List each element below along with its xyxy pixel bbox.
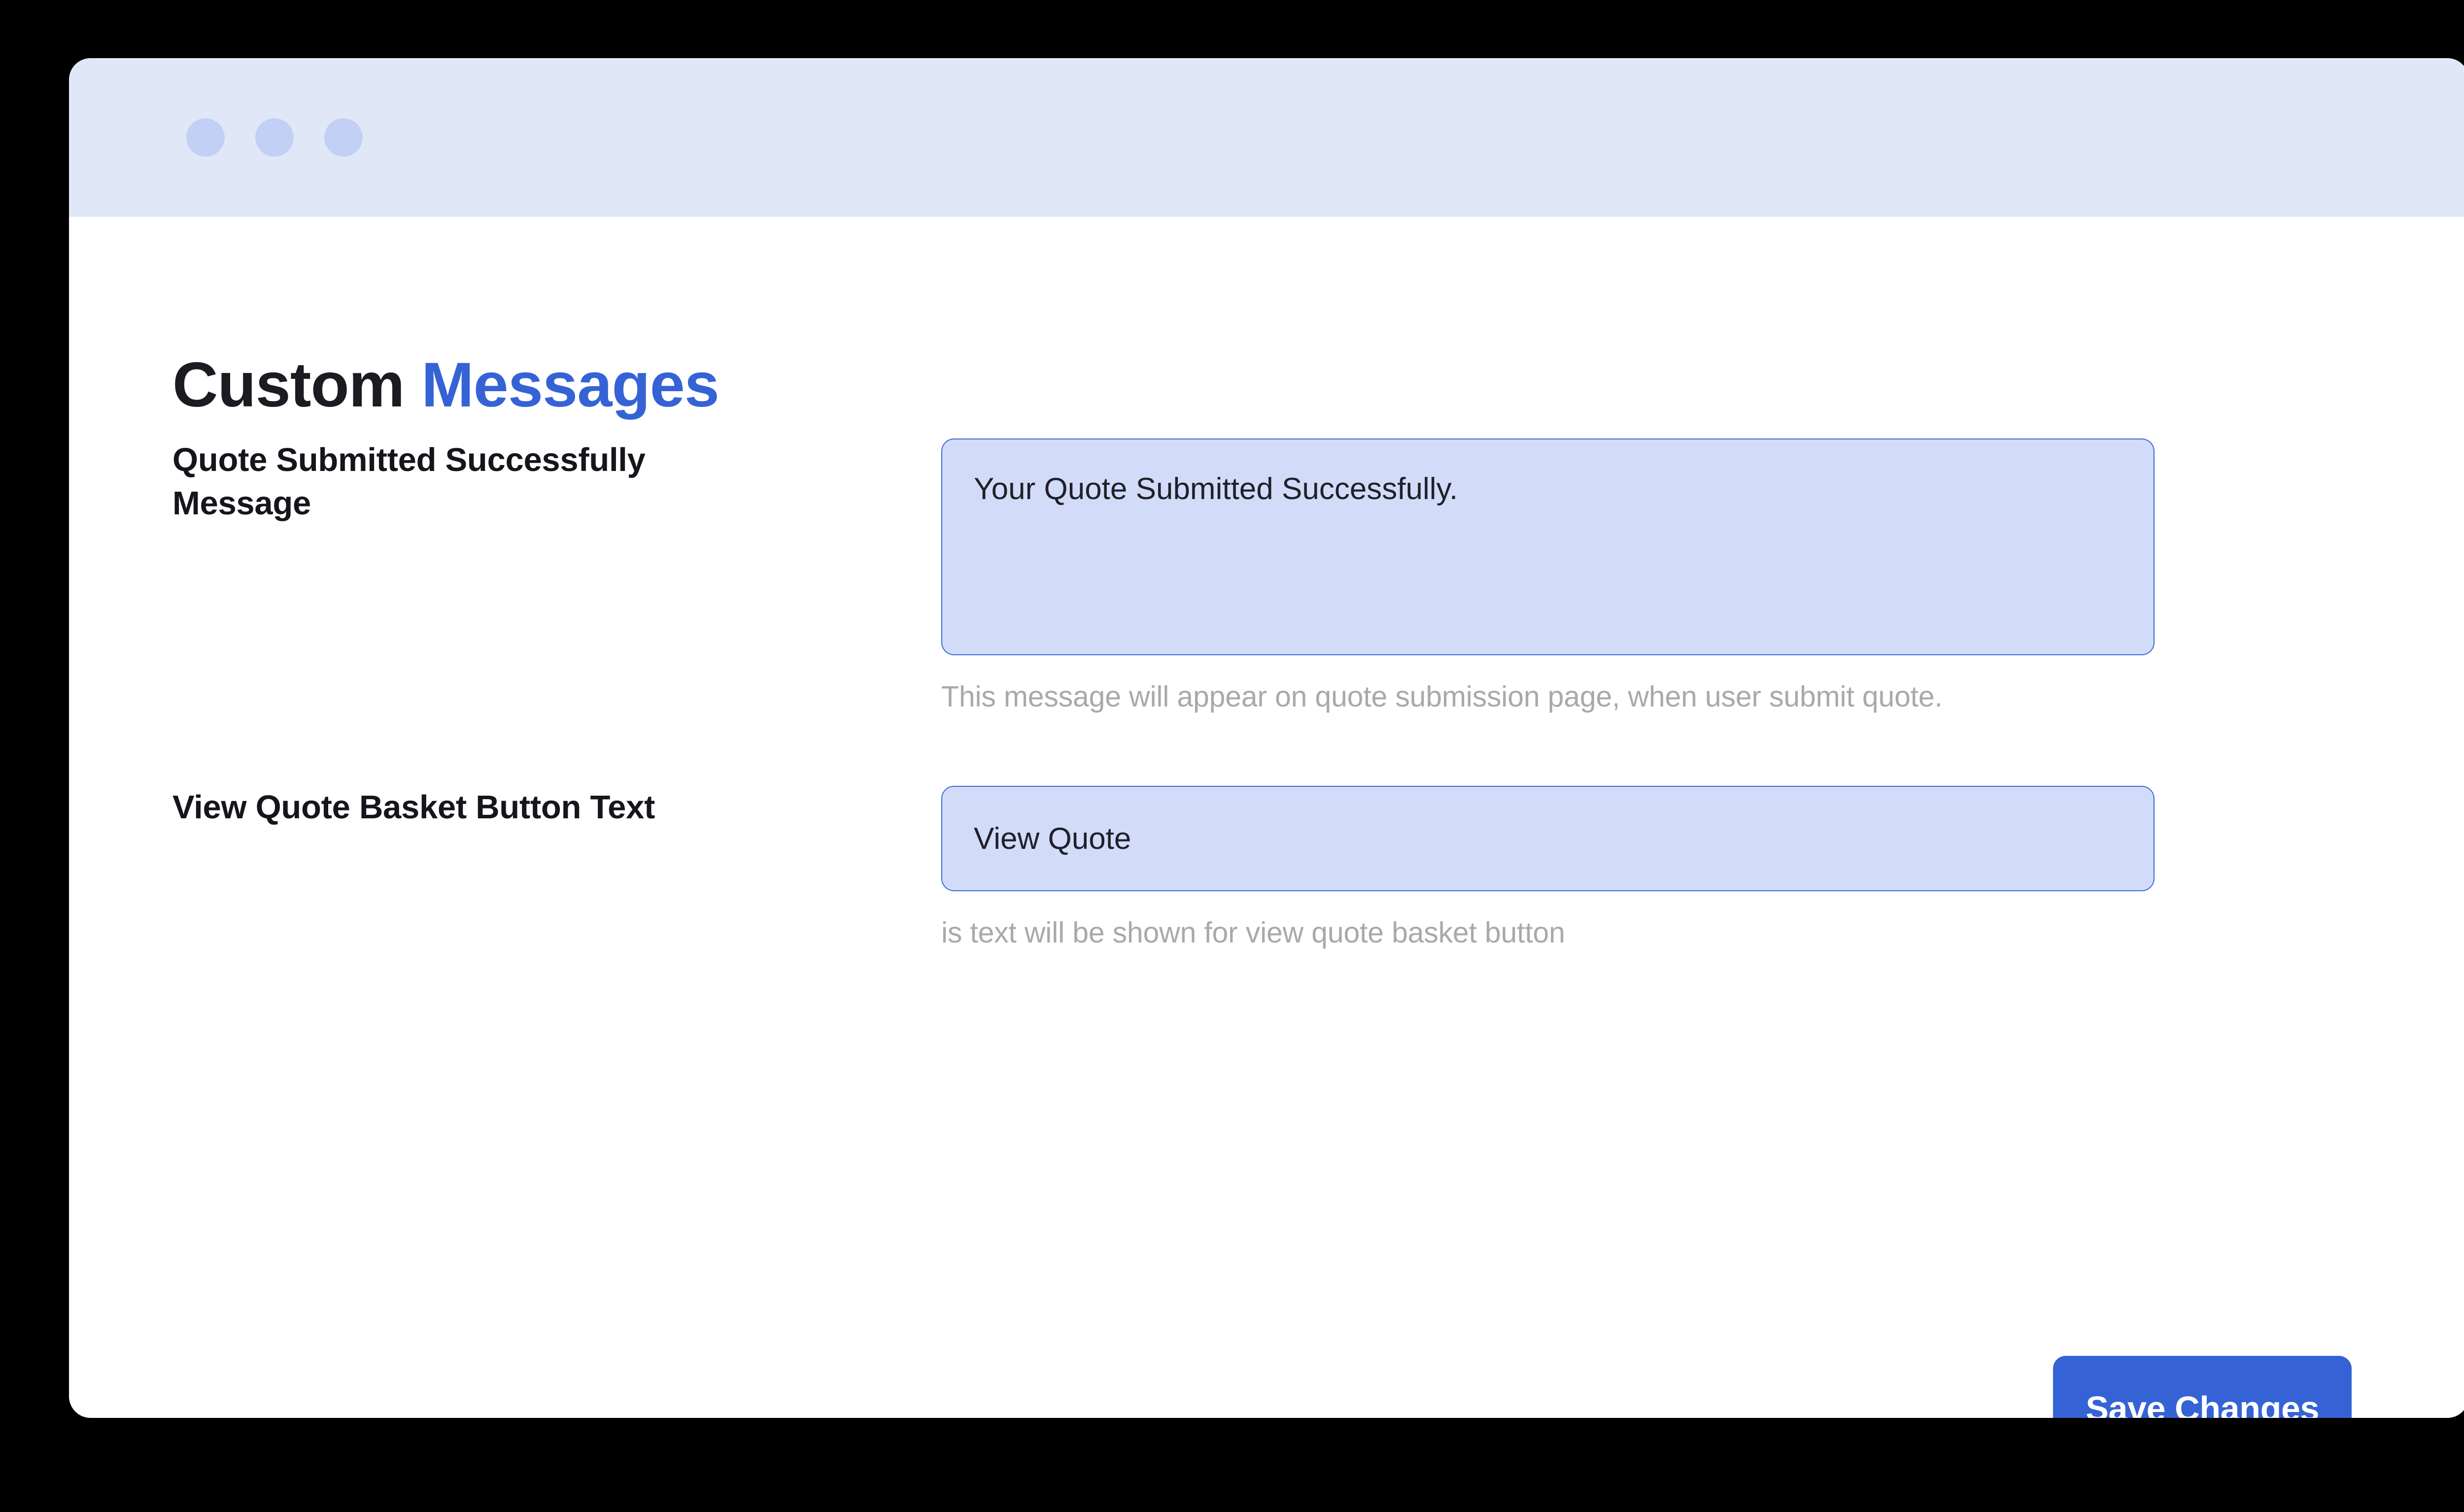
page-title: Custom Messages — [172, 349, 719, 421]
form-row-view-quote-basket-button: View Quote Basket Button Text is text wi… — [172, 786, 2351, 955]
helper-quote-submitted-message: This message will appear on quote submis… — [941, 675, 2119, 719]
control-quote-submitted-message: This message will appear on quote submis… — [941, 438, 2155, 719]
label-view-quote-basket-button: View Quote Basket Button Text — [172, 786, 754, 829]
label-quote-submitted-message: Quote Submitted Successfully Message — [172, 438, 754, 526]
browser-titlebar — [69, 58, 2464, 217]
window-dot-close-icon[interactable] — [186, 118, 225, 157]
page-title-primary: Custom — [172, 350, 404, 420]
page-title-accent: Messages — [421, 350, 719, 420]
save-changes-button[interactable]: Save Changes — [2053, 1356, 2352, 1418]
view-quote-basket-button-input[interactable] — [941, 786, 2155, 891]
page-body: Custom Messages Quote Submitted Successf… — [69, 217, 2464, 1418]
quote-submitted-message-textarea[interactable] — [941, 438, 2155, 655]
browser-window: Custom Messages Quote Submitted Successf… — [69, 58, 2464, 1418]
form-row-quote-submitted-message: Quote Submitted Successfully Message Thi… — [172, 438, 2351, 719]
window-dot-minimize-icon[interactable] — [255, 118, 294, 157]
control-view-quote-basket-button: is text will be shown for view quote bas… — [941, 786, 2155, 955]
helper-view-quote-basket-button: is text will be shown for view quote bas… — [941, 911, 2119, 955]
window-dot-maximize-icon[interactable] — [324, 118, 363, 157]
